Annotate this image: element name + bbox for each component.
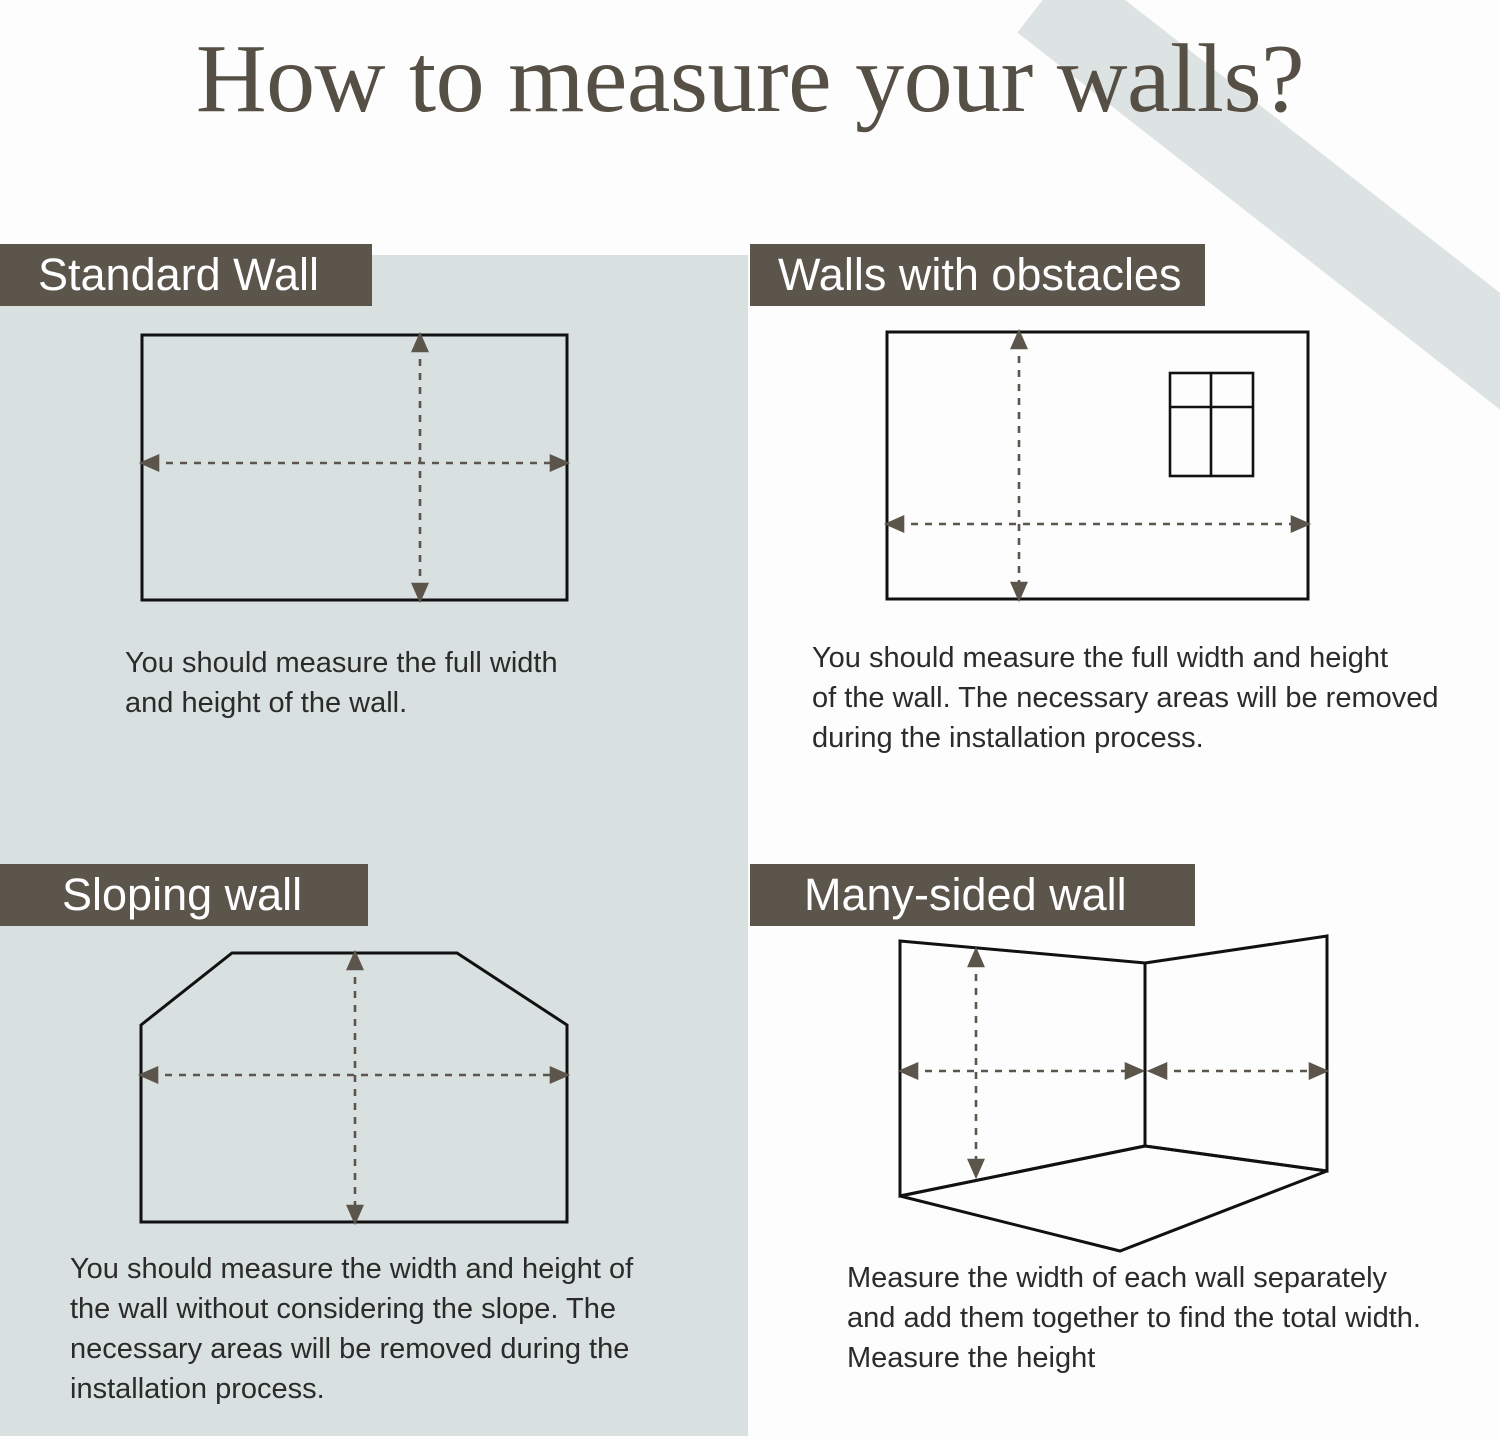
- wall-outline-rect: [142, 335, 567, 600]
- section-heading-walls-with-obstacles: Walls with obstacles: [750, 244, 1205, 306]
- caption-standard-wall: You should measure the full width and he…: [125, 643, 685, 723]
- floor-panel: [900, 1146, 1327, 1251]
- left-wall-width-arrow: [901, 1064, 1142, 1078]
- height-dimension-arrow: [348, 953, 362, 1222]
- width-dimension-arrow: [887, 517, 1308, 531]
- height-dimension-arrow: [1012, 332, 1026, 599]
- height-dimension-arrow: [413, 335, 427, 600]
- section-heading-standard-wall: Standard Wall: [0, 244, 372, 306]
- many-sided-wall-diagram: [875, 918, 1355, 1263]
- caption-many-sided-wall: Measure the width of each wall separatel…: [847, 1258, 1467, 1378]
- sloping-wall-diagram: [120, 935, 590, 1245]
- window-icon: [1170, 373, 1253, 476]
- left-wall-panel: [900, 941, 1145, 1196]
- width-dimension-arrow: [142, 456, 567, 470]
- right-wall-panel: [1145, 936, 1327, 1171]
- section-heading-sloping-wall: Sloping wall: [0, 864, 368, 926]
- section-heading-many-sided-wall: Many-sided wall: [750, 864, 1195, 926]
- infographic-page: How to measure your walls? Standard Wall…: [0, 0, 1500, 1439]
- height-dimension-arrow: [969, 950, 983, 1176]
- walls-with-obstacles-diagram: [865, 312, 1335, 622]
- caption-sloping-wall: You should measure the width and height …: [70, 1249, 680, 1409]
- caption-walls-with-obstacles: You should measure the full width and he…: [812, 638, 1472, 758]
- right-wall-width-arrow: [1150, 1064, 1326, 1078]
- standard-wall-diagram: [120, 315, 590, 625]
- page-title: How to measure your walls?: [0, 28, 1500, 131]
